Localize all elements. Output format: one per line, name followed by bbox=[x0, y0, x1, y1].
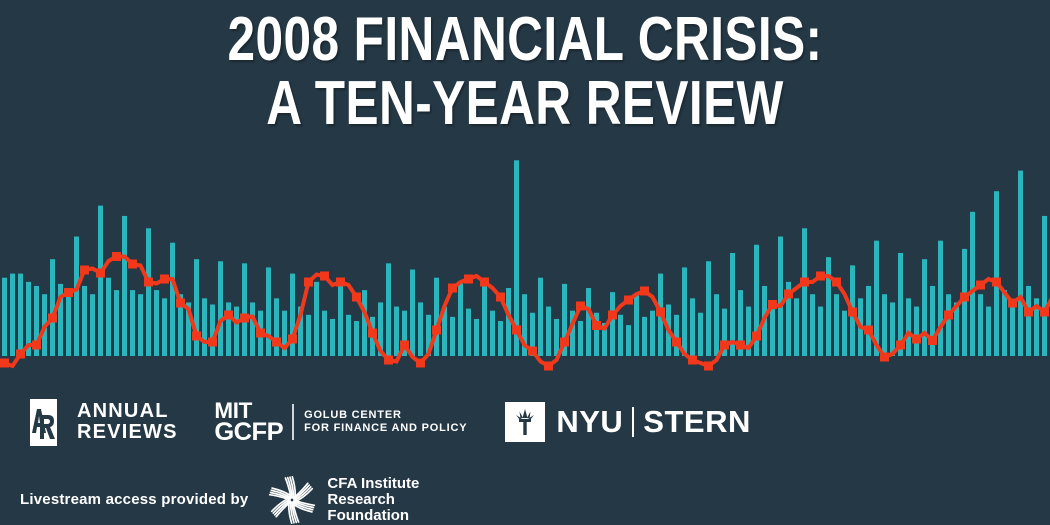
line-marker bbox=[192, 332, 201, 341]
chart-bar bbox=[626, 325, 631, 356]
line-marker bbox=[96, 269, 105, 278]
chart-bar bbox=[266, 267, 271, 356]
chart-bar bbox=[10, 274, 15, 356]
cfa-line-3: Foundation bbox=[327, 508, 419, 524]
line-marker bbox=[160, 275, 169, 284]
logo-mit-gcfp: MIT GCFP GOLUB CENTER FOR FINANCE AND PO… bbox=[215, 401, 468, 443]
chart-bar bbox=[394, 307, 399, 356]
chart-bar bbox=[170, 243, 175, 356]
chart-bar bbox=[418, 302, 423, 356]
chart-bar bbox=[986, 307, 991, 356]
chart-bar bbox=[706, 261, 711, 356]
line-marker bbox=[560, 338, 569, 347]
golub-center-line-2: FOR FINANCE AND POLICY bbox=[304, 422, 467, 435]
chart-bar bbox=[610, 292, 615, 356]
chart-bar bbox=[930, 286, 935, 356]
line-marker bbox=[848, 308, 857, 317]
chart-bar bbox=[202, 298, 207, 356]
line-marker bbox=[336, 278, 345, 287]
line-marker bbox=[352, 293, 361, 302]
chart-bar bbox=[338, 286, 343, 356]
chart-bar bbox=[946, 294, 951, 356]
line-marker bbox=[992, 278, 1001, 287]
chart-bar bbox=[826, 257, 831, 356]
line-marker bbox=[528, 347, 537, 356]
chart-bar bbox=[218, 261, 223, 356]
chart-bar bbox=[122, 216, 127, 356]
line-marker bbox=[416, 359, 425, 368]
chart-bar bbox=[114, 290, 119, 356]
chart-bar bbox=[2, 278, 7, 356]
mit-gcfp-wordmark: MIT GCFP bbox=[214, 401, 283, 443]
line-marker bbox=[208, 338, 217, 347]
chart-bar bbox=[970, 212, 975, 356]
chart-bar bbox=[890, 302, 895, 356]
chart-bar bbox=[1002, 290, 1007, 356]
chart-bar bbox=[242, 263, 247, 356]
line-marker bbox=[480, 278, 489, 287]
stern-word: STERN bbox=[643, 406, 751, 438]
line-marker bbox=[64, 288, 73, 297]
line-marker bbox=[320, 272, 329, 281]
line-marker bbox=[944, 311, 953, 320]
chart-bar bbox=[698, 313, 703, 356]
chart-bar bbox=[274, 298, 279, 356]
mit-gcfp-line-2: GCFP bbox=[214, 421, 283, 443]
chart-bar bbox=[74, 237, 79, 356]
chart-bar bbox=[586, 288, 591, 356]
line-marker bbox=[1040, 308, 1049, 317]
line-marker bbox=[1024, 308, 1033, 317]
nyu-stern-wordmark: NYU STERN bbox=[556, 406, 751, 438]
chart-bar bbox=[346, 315, 351, 356]
chart-bar bbox=[82, 286, 87, 356]
line-marker bbox=[144, 278, 153, 287]
chart-bar bbox=[1026, 286, 1031, 356]
livestream-credit-row: Livestream access provided by CFA Instit… bbox=[0, 474, 1050, 525]
chart-bar bbox=[554, 319, 559, 356]
chart-bar bbox=[1042, 216, 1047, 356]
chart-bar bbox=[498, 321, 503, 356]
line-marker bbox=[656, 308, 665, 317]
bar-series bbox=[2, 160, 1050, 356]
line-marker bbox=[80, 266, 89, 275]
annual-reviews-line-1: ANNUAL bbox=[77, 401, 178, 422]
cfa-line-1: CFA Institute bbox=[327, 476, 419, 492]
chart-bar bbox=[250, 302, 255, 356]
chart-bar bbox=[18, 274, 23, 356]
chart-bar bbox=[914, 307, 919, 356]
golub-center-line-1: GOLUB CENTER bbox=[304, 409, 467, 422]
line-marker bbox=[384, 356, 393, 365]
chart-bar bbox=[538, 278, 543, 356]
chart-bar bbox=[642, 317, 647, 356]
torch-icon bbox=[505, 402, 545, 442]
golub-center-subtitle: GOLUB CENTER FOR FINANCE AND POLICY bbox=[304, 409, 467, 435]
line-marker bbox=[768, 300, 777, 309]
line-marker bbox=[592, 321, 601, 330]
chart-bar bbox=[362, 290, 367, 356]
chart-bar bbox=[482, 286, 487, 356]
chart-bar bbox=[234, 307, 239, 356]
line-marker bbox=[512, 326, 521, 335]
chart-bar bbox=[882, 294, 887, 356]
annual-reviews-monogram-icon bbox=[20, 399, 67, 446]
chart-bar bbox=[962, 249, 967, 356]
line-marker bbox=[32, 341, 41, 350]
cfa-pinwheel-icon bbox=[266, 476, 318, 524]
chart-bar bbox=[810, 294, 815, 356]
annual-reviews-wordmark: ANNUAL REVIEWS bbox=[77, 401, 178, 443]
cfa-institute-wordmark: CFA Institute Research Foundation bbox=[327, 476, 419, 524]
chart-bar bbox=[386, 263, 391, 356]
line-marker bbox=[672, 338, 681, 347]
line-marker bbox=[720, 341, 729, 350]
chart-bar bbox=[994, 191, 999, 356]
line-marker bbox=[816, 272, 825, 281]
chart-bar bbox=[314, 282, 319, 356]
line-marker bbox=[736, 341, 745, 350]
line-marker bbox=[48, 314, 57, 323]
chart-bar bbox=[474, 319, 479, 356]
line-marker bbox=[624, 296, 633, 305]
line-marker bbox=[448, 284, 457, 293]
chart-bar bbox=[490, 311, 495, 356]
line-marker bbox=[496, 293, 505, 302]
cfa-line-2: Research bbox=[327, 492, 419, 508]
chart-bar bbox=[162, 298, 167, 356]
line-marker bbox=[544, 362, 553, 371]
line-marker bbox=[224, 311, 233, 320]
line-marker bbox=[608, 311, 617, 320]
chart-bar bbox=[306, 315, 311, 356]
line-marker bbox=[864, 326, 873, 335]
line-marker bbox=[128, 260, 137, 269]
line-marker bbox=[752, 332, 761, 341]
chart-bar bbox=[778, 237, 783, 356]
chart-bar bbox=[978, 294, 983, 356]
line-marker bbox=[880, 353, 889, 362]
chart-bar bbox=[794, 298, 799, 356]
chart-bar bbox=[450, 317, 455, 356]
chart-bar bbox=[434, 278, 439, 356]
line-marker bbox=[368, 329, 377, 338]
livestream-label: Livestream access provided by bbox=[20, 491, 248, 508]
nyu-stern-divider bbox=[632, 407, 634, 437]
line-marker bbox=[272, 338, 281, 347]
logo-nyu-stern: NYU STERN bbox=[505, 402, 751, 442]
chart-bar bbox=[458, 282, 463, 356]
chart-bar bbox=[90, 294, 95, 356]
line-marker bbox=[256, 329, 265, 338]
chart-bar bbox=[226, 302, 231, 356]
line-marker bbox=[16, 350, 25, 359]
line-marker bbox=[0, 359, 9, 368]
line-marker bbox=[1008, 299, 1017, 308]
chart-bar bbox=[818, 307, 823, 356]
chart-bar bbox=[1018, 171, 1023, 356]
chart-bar bbox=[194, 259, 199, 356]
chart-bar bbox=[866, 286, 871, 356]
chart-bar bbox=[50, 259, 55, 356]
line-marker bbox=[640, 287, 649, 296]
chart-bar bbox=[130, 290, 135, 356]
chart-bar bbox=[618, 315, 623, 356]
chart-bar bbox=[682, 267, 687, 356]
line-marker bbox=[912, 335, 921, 344]
chart-bar bbox=[154, 290, 159, 356]
poster-canvas: 2008 FINANCIAL CRISIS: A TEN-YEAR REVIEW… bbox=[0, 0, 1050, 525]
nyu-word: NYU bbox=[556, 406, 623, 438]
chart-bar bbox=[146, 228, 151, 356]
chart-bar bbox=[938, 241, 943, 356]
chart-bar bbox=[842, 311, 847, 356]
line-marker bbox=[704, 362, 713, 371]
chart-bar bbox=[1010, 302, 1015, 356]
logo-divider bbox=[292, 404, 294, 440]
chart-bar bbox=[98, 206, 103, 356]
chart-bar bbox=[714, 294, 719, 356]
line-marker bbox=[960, 293, 969, 302]
line-marker bbox=[112, 252, 121, 261]
chart-bar bbox=[330, 319, 335, 356]
chart-bar bbox=[210, 305, 215, 357]
line-marker bbox=[784, 290, 793, 299]
chart-bar bbox=[106, 278, 111, 356]
chart-bar bbox=[466, 309, 471, 356]
chart-bar bbox=[66, 294, 71, 356]
chart-bar bbox=[634, 294, 639, 356]
chart-bar bbox=[802, 228, 807, 356]
logo-annual-reviews: ANNUAL REVIEWS bbox=[20, 399, 178, 446]
chart-bar bbox=[546, 307, 551, 356]
line-marker bbox=[896, 341, 905, 350]
line-marker bbox=[400, 341, 409, 350]
chart-bar bbox=[650, 311, 655, 356]
line-marker bbox=[928, 336, 937, 345]
line-marker bbox=[176, 299, 185, 308]
chart-bar bbox=[322, 311, 327, 356]
chart-bar bbox=[690, 298, 695, 356]
line-marker bbox=[240, 314, 249, 323]
chart-bar bbox=[410, 269, 415, 356]
sponsor-logo-row: ANNUAL REVIEWS MIT GCFP GOLUB CENTER FOR… bbox=[0, 392, 1050, 452]
line-marker bbox=[976, 281, 985, 290]
line-marker bbox=[800, 278, 809, 287]
chart-bar bbox=[578, 321, 583, 356]
annual-reviews-line-2: REVIEWS bbox=[77, 422, 178, 443]
line-marker bbox=[432, 326, 441, 335]
chart-bar bbox=[138, 294, 143, 356]
chart-bar bbox=[354, 321, 359, 356]
chart-bar bbox=[674, 315, 679, 356]
line-marker bbox=[288, 335, 297, 344]
line-marker bbox=[304, 278, 313, 287]
line-marker bbox=[464, 275, 473, 284]
chart-bar bbox=[906, 298, 911, 356]
chart-bar bbox=[834, 294, 839, 356]
line-marker bbox=[688, 356, 697, 365]
line-marker bbox=[832, 278, 841, 287]
line-marker bbox=[576, 302, 585, 311]
chart-bar bbox=[922, 259, 927, 356]
